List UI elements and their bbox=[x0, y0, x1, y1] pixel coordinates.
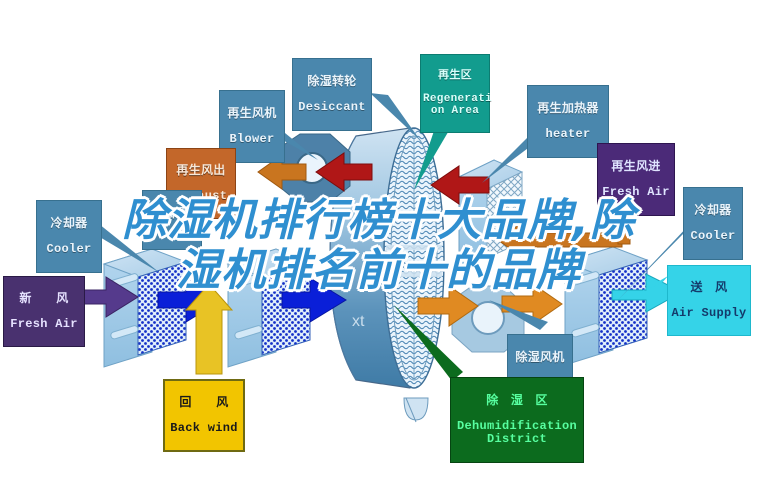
label-desiccant-wheel-en: Desiccant bbox=[295, 101, 369, 114]
label-desiccant-wheel: 除湿转轮 Desiccant bbox=[292, 58, 372, 131]
label-regeneration-heater-cn: 再生加热器 bbox=[530, 102, 606, 115]
label-regeneration-fresh-air-en: Fresh Air bbox=[600, 186, 672, 199]
label-cooler-left-en: Cooler bbox=[39, 243, 99, 256]
label-regeneration-area-cn: 再生区 bbox=[423, 70, 487, 82]
label-cooler-right-cn: 冷却器 bbox=[686, 204, 740, 217]
diagram-canvas: xt 除湿转轮 Desiccant 再生风机 Blower 再生区 Regene… bbox=[0, 0, 757, 488]
label-fresh-air-intake: 新 风 Fresh Air bbox=[3, 276, 85, 347]
label-cooler-left-2: 冷却器 bbox=[142, 190, 202, 250]
cooler-coil-right bbox=[565, 247, 647, 365]
label-cooler-left-2-cn: 冷却器 bbox=[145, 207, 199, 220]
label-back-wind-cn: 回 风 bbox=[167, 396, 241, 409]
label-desiccant-wheel-cn: 除湿转轮 bbox=[295, 75, 369, 88]
label-fresh-air-intake-cn: 新 风 bbox=[6, 292, 82, 305]
label-regeneration-blower-en: Blower bbox=[222, 133, 282, 146]
label-back-wind-en: Back wind bbox=[167, 422, 241, 435]
label-fresh-air-intake-en: Fresh Air bbox=[6, 318, 82, 331]
label-regeneration-fresh-air-cn: 再生风进 bbox=[600, 160, 672, 173]
label-air-supply-cn: 送 风 bbox=[670, 281, 748, 294]
drain bbox=[404, 398, 428, 422]
label-cooler-right-en: Cooler bbox=[686, 230, 740, 243]
label-regeneration-blower-cn: 再生风机 bbox=[222, 107, 282, 120]
dehumidifier-schematic: xt bbox=[0, 0, 757, 488]
label-air-supply-en: Air Supply bbox=[670, 307, 748, 320]
label-air-supply: 送 风 Air Supply bbox=[667, 265, 751, 336]
label-cooler-right: 冷却器 Cooler bbox=[683, 187, 743, 260]
label-back-wind: 回 风 Back wind bbox=[163, 379, 245, 452]
label-cooler-left-cn: 冷却器 bbox=[39, 217, 99, 230]
watermark-text: xt bbox=[352, 313, 365, 330]
label-dehumidification-district: 除 湿 区 Dehumidification District bbox=[450, 377, 584, 463]
label-regeneration-heater-en: heater bbox=[530, 128, 606, 141]
label-dehumidification-district-cn: 除 湿 区 bbox=[453, 394, 581, 407]
label-regeneration-fresh-air: 再生风进 Fresh Air bbox=[597, 143, 675, 216]
label-cooler-left: 冷却器 Cooler bbox=[36, 200, 102, 273]
label-dehumidification-blower-cn: 除湿风机 bbox=[510, 351, 570, 364]
label-regeneration-area-en: Regenerati on Area bbox=[423, 94, 487, 118]
label-dehumidification-district-en: Dehumidification District bbox=[453, 420, 581, 446]
label-exhaust-cn: 再生风出 bbox=[169, 164, 233, 177]
label-regeneration-area: 再生区 Regenerati on Area bbox=[420, 54, 490, 133]
